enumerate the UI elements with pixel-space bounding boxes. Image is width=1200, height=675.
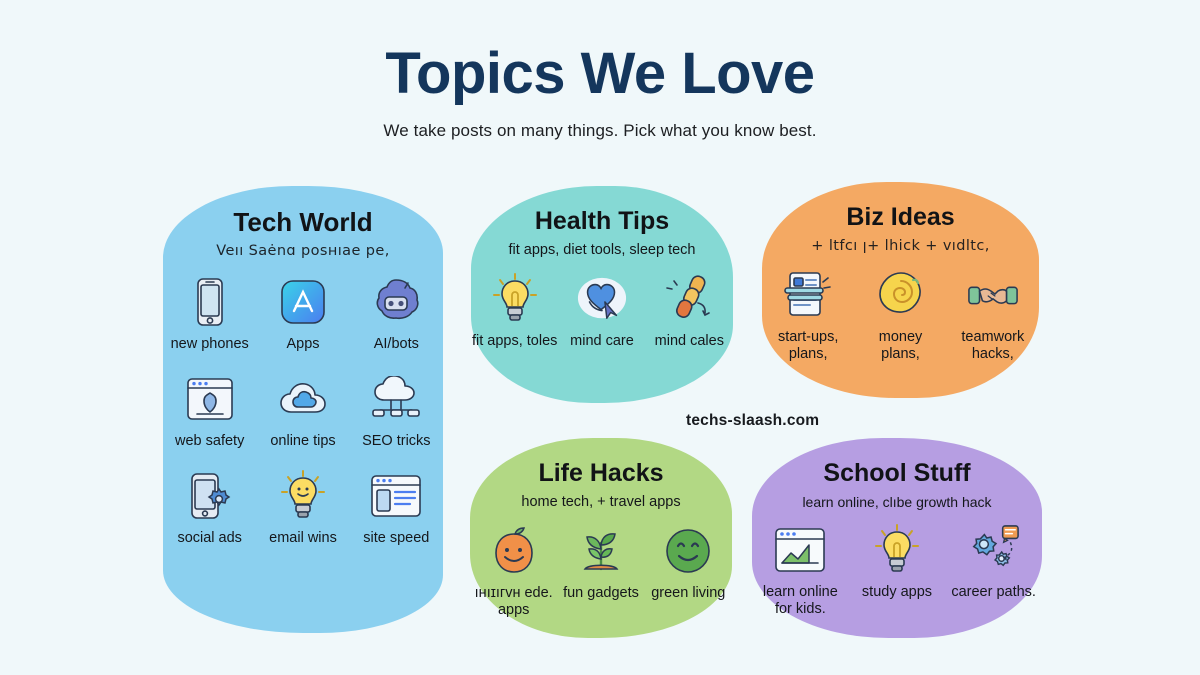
topic-item-school-2[interactable]: career paths.	[945, 522, 1042, 618]
topic-item-school-0[interactable]: learn online for kids.	[752, 522, 849, 618]
cloud-network-icon	[370, 371, 422, 427]
topic-title-tech: Tech World	[163, 208, 443, 237]
browser-shield-icon	[184, 371, 236, 427]
gold-coin-swirl-icon	[875, 267, 927, 323]
robot-blob-icon	[370, 274, 422, 330]
app-store-icon	[277, 274, 329, 330]
topic-item-label: email wins	[269, 530, 337, 547]
lightbulb-smile-icon	[277, 468, 329, 524]
topic-subtitle-tech: Veıı Saėnɑ posнıae pe,	[163, 243, 443, 260]
topic-board: Tech World Veıı Saėnɑ posнıae pe, new ph…	[0, 0, 1200, 675]
topic-item-label: money plans,	[858, 329, 944, 363]
topic-title-school: School Stuff	[752, 460, 1042, 488]
topic-item-label: learn online for kids.	[757, 584, 843, 618]
topic-item-biz-2[interactable]: teamwork hacks,	[947, 267, 1039, 363]
lightbulb-icon	[871, 522, 923, 578]
plant-sprout-icon	[575, 523, 627, 579]
topic-item-label: social ads	[177, 530, 241, 547]
topic-item-life-1[interactable]: fun gadgets	[557, 523, 644, 619]
topic-title-life: Life Hacks	[470, 460, 732, 488]
heart-cursor-icon	[576, 271, 628, 327]
topic-card-tech[interactable]: Tech World Veıı Saėnɑ posнıae pe, new ph…	[163, 186, 443, 633]
orange-smile-icon	[488, 523, 540, 579]
topic-item-tech-5[interactable]: SEO tricks	[350, 371, 443, 450]
topic-item-health-1[interactable]: mind care	[558, 271, 645, 350]
topic-item-life-0[interactable]: ıнıɪıгvн ede. apps	[470, 523, 557, 619]
topic-subtitle-biz: + ltfcı ꞁ+ lhick + vıdltc,	[762, 238, 1039, 255]
topic-item-label: start-ups, plans,	[765, 329, 851, 363]
chain-link-icon	[663, 271, 715, 327]
topic-items-life: ıнıɪıгvн ede. appsfun gadgetsgreen livin…	[470, 523, 732, 633]
topic-card-biz[interactable]: Biz Ideas + ltfcı ꞁ+ lhick + vıdltc, sta…	[762, 182, 1039, 398]
topic-item-label: ıнıɪıгvн ede. apps	[471, 585, 557, 619]
topic-item-tech-6[interactable]: social ads	[163, 468, 256, 547]
cloud-icon	[277, 371, 329, 427]
topic-item-label: new phones	[171, 336, 249, 353]
document-stack-icon	[782, 267, 834, 323]
topic-item-health-0[interactable]: fit apps, toles	[471, 271, 558, 350]
topic-item-tech-8[interactable]: site speed	[350, 468, 443, 547]
topic-item-label: green living	[651, 585, 725, 602]
topic-item-label: web safety	[175, 433, 244, 450]
topic-item-label: fit apps, toles	[472, 333, 557, 350]
topic-item-label: mind care	[570, 333, 634, 350]
topic-item-tech-4[interactable]: online tips	[256, 371, 349, 450]
browser-layout-icon	[370, 468, 422, 524]
topic-card-life[interactable]: Life Hacks home tech, + travel apps ıнıɪ…	[470, 438, 732, 638]
topic-item-label: SEO tricks	[362, 433, 430, 450]
topic-item-biz-0[interactable]: start-ups, plans,	[762, 267, 854, 363]
topic-item-label: fun gadgets	[563, 585, 639, 602]
topic-items-tech: new phonesAppsAI/botsweb safetyonline ti…	[163, 274, 443, 564]
topic-item-biz-1[interactable]: money plans,	[854, 267, 946, 363]
handshake-icon	[967, 267, 1019, 323]
chart-window-icon	[774, 522, 826, 578]
topic-item-tech-7[interactable]: email wins	[256, 468, 349, 547]
topic-item-tech-0[interactable]: new phones	[163, 274, 256, 353]
topic-item-school-1[interactable]: study apps	[849, 522, 946, 618]
smartphone-icon	[184, 274, 236, 330]
topic-card-school[interactable]: School Stuff learn online, clıbe growth …	[752, 438, 1042, 638]
topic-item-tech-1[interactable]: Apps	[256, 274, 349, 353]
topic-item-label: teamwork hacks,	[950, 329, 1036, 363]
topic-item-label: AI/bots	[374, 336, 419, 353]
lightbulb-icon	[489, 271, 541, 327]
topic-card-health[interactable]: Health Tips fit apps, diet tools, sleep …	[471, 186, 733, 403]
topic-item-label: site speed	[363, 530, 429, 547]
topic-item-health-2[interactable]: mind cales	[646, 271, 733, 350]
topic-item-life-2[interactable]: green living	[645, 523, 732, 619]
site-watermark: techs-slaash.com	[686, 412, 819, 430]
gears-note-icon	[968, 522, 1020, 578]
topic-subtitle-life: home tech, + travel apps	[470, 494, 732, 511]
topic-item-label: career paths.	[951, 584, 1036, 601]
topic-item-label: mind cales	[655, 333, 724, 350]
topic-item-label: Apps	[286, 336, 319, 353]
topic-item-tech-3[interactable]: web safety	[163, 371, 256, 450]
topic-items-health: fit apps, tolesmind caremind cales	[471, 271, 733, 364]
topic-title-biz: Biz Ideas	[762, 204, 1039, 232]
green-smile-icon	[662, 523, 714, 579]
topic-title-health: Health Tips	[471, 208, 733, 236]
phone-gear-icon	[184, 468, 236, 524]
topic-item-tech-2[interactable]: AI/bots	[350, 274, 443, 353]
topic-item-label: online tips	[270, 433, 335, 450]
topic-subtitle-school: learn online, clıbe growth hack	[752, 494, 1042, 511]
topic-items-biz: start-ups, plans,money plans,teamwork ha…	[762, 267, 1039, 377]
topic-items-school: learn online for kids.study appscareer p…	[752, 522, 1042, 632]
topic-subtitle-health: fit apps, diet tools, sleep tech	[471, 242, 733, 259]
topic-item-label: study apps	[862, 584, 932, 601]
